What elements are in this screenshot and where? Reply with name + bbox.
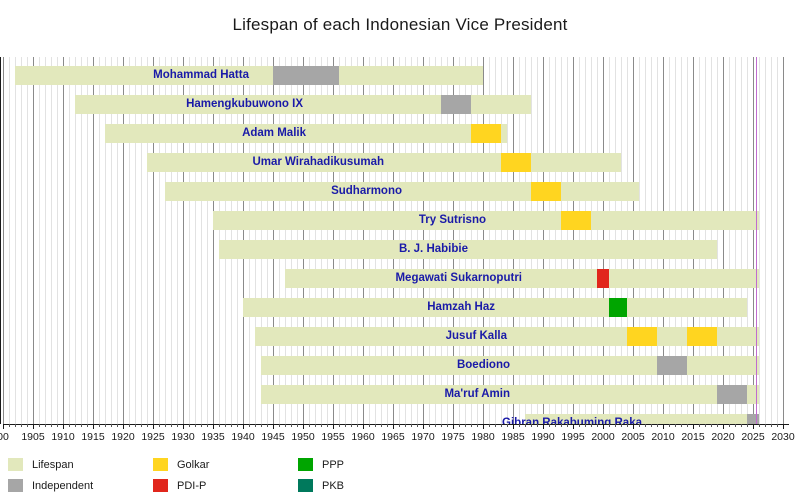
x-tick-minor	[549, 424, 550, 427]
x-tick-major	[123, 424, 124, 429]
x-tick-minor	[57, 424, 58, 427]
x-tick-minor	[309, 424, 310, 427]
term-segment-golkar[interactable]	[627, 327, 657, 346]
x-tick-minor	[729, 424, 730, 427]
timeline-row[interactable]: Gibran Rakabuming Raka	[3, 414, 789, 424]
x-tick-minor	[519, 424, 520, 427]
x-tick-major	[513, 424, 514, 429]
x-tick-minor	[489, 424, 490, 427]
timeline-row[interactable]: Sudharmono	[3, 182, 789, 201]
x-tick-minor	[669, 424, 670, 427]
x-tick-major	[303, 424, 304, 429]
timeline-row[interactable]: Boediono	[3, 356, 789, 375]
x-tick-minor	[771, 424, 772, 427]
x-tick-minor	[357, 424, 358, 427]
term-segment-independent[interactable]	[657, 356, 687, 375]
x-tick-minor	[15, 424, 16, 427]
x-tick-minor	[651, 424, 652, 427]
timeline-row[interactable]: Umar Wirahadikusumah	[3, 153, 789, 172]
row-label: Ma'ruf Amin	[3, 385, 510, 404]
term-segment-ppp[interactable]	[609, 298, 627, 317]
x-tick-minor	[267, 424, 268, 427]
legend-item-pkb[interactable]: PKB	[298, 479, 344, 492]
x-tick-minor	[411, 424, 412, 427]
x-tick-minor	[687, 424, 688, 427]
timeline-row[interactable]: B. J. Habibie	[3, 240, 789, 259]
x-tick-minor	[345, 424, 346, 427]
timeline-row[interactable]: Ma'ruf Amin	[3, 385, 789, 404]
x-tick-minor	[81, 424, 82, 427]
x-tick-minor	[711, 424, 712, 427]
x-tick-minor	[165, 424, 166, 427]
x-tick-major	[3, 424, 4, 429]
today-marker-line	[756, 57, 757, 424]
legend-item-golkar[interactable]: Golkar	[153, 458, 209, 471]
x-tick-minor	[45, 424, 46, 427]
row-label: Hamzah Haz	[3, 298, 495, 317]
x-tick-major	[33, 424, 34, 429]
x-tick-minor	[255, 424, 256, 427]
x-tick-minor	[777, 424, 778, 427]
x-tick-major	[63, 424, 64, 429]
legend-label-independent: Independent	[32, 480, 93, 492]
timeline-row[interactable]: Try Sutrisno	[3, 211, 789, 230]
legend-label-lifespan: Lifespan	[32, 459, 74, 471]
x-tick-minor	[441, 424, 442, 427]
x-tick-minor	[201, 424, 202, 427]
x-tick-minor	[291, 424, 292, 427]
timeline-row[interactable]: Hamzah Haz	[3, 298, 789, 317]
timeline-row[interactable]: Mohammad Hatta	[3, 66, 789, 85]
x-tick-minor	[321, 424, 322, 427]
x-tick-minor	[207, 424, 208, 427]
x-tick-minor	[99, 424, 100, 427]
x-tick-minor	[705, 424, 706, 427]
legend-item-independent[interactable]: Independent	[8, 479, 93, 492]
x-tick-minor	[69, 424, 70, 427]
x-tick-minor	[429, 424, 430, 427]
term-segment-golkar[interactable]	[531, 182, 561, 201]
legend-label-pkb: PKB	[322, 480, 344, 492]
x-tick-major	[333, 424, 334, 429]
x-tick-minor	[561, 424, 562, 427]
x-tick-minor	[387, 424, 388, 427]
x-tick-minor	[501, 424, 502, 427]
x-tick-minor	[111, 424, 112, 427]
row-label: Try Sutrisno	[3, 211, 486, 230]
chart-title: Lifespan of each Indonesian Vice Preside…	[0, 15, 800, 35]
x-tick-minor	[591, 424, 592, 427]
term-segment-pdip[interactable]	[597, 269, 609, 288]
row-label: B. J. Habibie	[3, 240, 468, 259]
timeline-row[interactable]: Megawati Sukarnoputri	[3, 269, 789, 288]
x-tick-major	[273, 424, 274, 429]
timeline-row[interactable]: Jusuf Kalla	[3, 327, 789, 346]
x-tick-minor	[141, 424, 142, 427]
x-tick-minor	[249, 424, 250, 427]
row-label: Sudharmono	[3, 182, 402, 201]
x-tick-minor	[51, 424, 52, 427]
row-label: Umar Wirahadikusumah	[3, 153, 384, 172]
x-tick-minor	[657, 424, 658, 427]
term-segment-independent[interactable]	[747, 414, 759, 424]
x-tick-major	[453, 424, 454, 429]
x-tick-minor	[735, 424, 736, 427]
x-tick-major	[783, 424, 784, 429]
x-tick-major	[93, 424, 94, 429]
x-tick-minor	[471, 424, 472, 427]
x-tick-minor	[105, 424, 106, 427]
x-tick-minor	[339, 424, 340, 427]
x-tick-minor	[681, 424, 682, 427]
x-tick-major	[183, 424, 184, 429]
x-tick-major	[753, 424, 754, 429]
x-tick-minor	[699, 424, 700, 427]
x-tick-minor	[189, 424, 190, 427]
row-label: Gibran Rakabuming Raka	[3, 414, 642, 424]
x-tick-major	[483, 424, 484, 429]
x-tick-minor	[351, 424, 352, 427]
x-tick-minor	[759, 424, 760, 427]
chart-root: Lifespan of each Indonesian Vice Preside…	[0, 0, 800, 500]
x-tick-minor	[717, 424, 718, 427]
x-tick-minor	[507, 424, 508, 427]
x-tick-major	[393, 424, 394, 429]
x-tick-minor	[75, 424, 76, 427]
x-tick-major	[663, 424, 664, 429]
term-segment-independent[interactable]	[273, 66, 339, 85]
x-tick-minor	[279, 424, 280, 427]
x-tick-label: 2030	[763, 431, 800, 443]
legend-swatch-golkar	[153, 458, 168, 471]
x-tick-minor	[315, 424, 316, 427]
x-tick-major	[693, 424, 694, 429]
x-tick-minor	[225, 424, 226, 427]
x-tick-minor	[447, 424, 448, 427]
x-tick-minor	[465, 424, 466, 427]
x-tick-minor	[405, 424, 406, 427]
x-tick-minor	[537, 424, 538, 427]
x-tick-minor	[147, 424, 148, 427]
x-tick-minor	[297, 424, 298, 427]
legend-item-ppp[interactable]: PPP	[298, 458, 344, 471]
term-segment-independent[interactable]	[441, 95, 471, 114]
x-tick-minor	[195, 424, 196, 427]
x-tick-minor	[27, 424, 28, 427]
x-tick-minor	[9, 424, 10, 427]
x-tick-major	[543, 424, 544, 429]
x-tick-major	[633, 424, 634, 429]
x-tick-major	[363, 424, 364, 429]
x-tick-minor	[219, 424, 220, 427]
x-tick-major	[423, 424, 424, 429]
x-tick-minor	[159, 424, 160, 427]
x-tick-minor	[177, 424, 178, 427]
term-segment-golkar[interactable]	[687, 327, 717, 346]
x-tick-minor	[129, 424, 130, 427]
x-tick-minor	[237, 424, 238, 427]
x-tick-minor	[639, 424, 640, 427]
x-tick-minor	[435, 424, 436, 427]
x-tick-minor	[117, 424, 118, 427]
x-tick-minor	[261, 424, 262, 427]
term-segment-golkar[interactable]	[471, 124, 501, 143]
x-tick-minor	[531, 424, 532, 427]
x-tick-minor	[285, 424, 286, 427]
x-tick-major	[153, 424, 154, 429]
legend-label-ppp: PPP	[322, 459, 344, 471]
x-tick-minor	[645, 424, 646, 427]
timeline-row[interactable]: Adam Malik	[3, 124, 789, 143]
legend-swatch-pdip	[153, 479, 168, 492]
row-label: Mohammad Hatta	[3, 66, 249, 85]
legend-label-golkar: Golkar	[177, 459, 209, 471]
legend-swatch-ppp	[298, 458, 313, 471]
y-axis-line	[0, 57, 1, 424]
x-tick-minor	[675, 424, 676, 427]
x-tick-minor	[585, 424, 586, 427]
x-tick-minor	[741, 424, 742, 427]
x-tick-minor	[171, 424, 172, 427]
legend-swatch-independent	[8, 479, 23, 492]
term-segment-golkar[interactable]	[561, 211, 591, 230]
x-tick-minor	[609, 424, 610, 427]
x-tick-minor	[327, 424, 328, 427]
x-tick-minor	[597, 424, 598, 427]
term-segment-independent[interactable]	[717, 385, 747, 404]
x-tick-minor	[135, 424, 136, 427]
x-tick-minor	[525, 424, 526, 427]
x-tick-minor	[621, 424, 622, 427]
term-segment-golkar[interactable]	[501, 153, 531, 172]
x-tick-major	[213, 424, 214, 429]
x-tick-major	[243, 424, 244, 429]
plot-area: Mohammad HattaHamengkubuwono IXAdam Mali…	[3, 57, 789, 424]
x-tick-minor	[87, 424, 88, 427]
x-tick-minor	[39, 424, 40, 427]
row-label: Hamengkubuwono IX	[3, 95, 303, 114]
x-tick-minor	[417, 424, 418, 427]
x-tick-minor	[381, 424, 382, 427]
x-axis-line	[3, 424, 789, 425]
x-tick-minor	[21, 424, 22, 427]
x-tick-minor	[567, 424, 568, 427]
timeline-row[interactable]: Hamengkubuwono IX	[3, 95, 789, 114]
x-tick-minor	[495, 424, 496, 427]
x-tick-minor	[627, 424, 628, 427]
x-tick-minor	[579, 424, 580, 427]
row-label: Boediono	[3, 356, 510, 375]
x-tick-minor	[555, 424, 556, 427]
x-tick-minor	[459, 424, 460, 427]
row-label: Megawati Sukarnoputri	[3, 269, 522, 288]
legend-item-lifespan[interactable]: Lifespan	[8, 458, 74, 471]
legend-label-pdip: PDI-P	[177, 480, 206, 492]
x-tick-minor	[231, 424, 232, 427]
x-tick-minor	[375, 424, 376, 427]
x-tick-minor	[615, 424, 616, 427]
x-tick-minor	[399, 424, 400, 427]
x-tick-major	[723, 424, 724, 429]
x-tick-major	[603, 424, 604, 429]
legend-swatch-pkb	[298, 479, 313, 492]
x-tick-major	[573, 424, 574, 429]
x-tick-minor	[765, 424, 766, 427]
legend-swatch-lifespan	[8, 458, 23, 471]
x-tick-minor	[369, 424, 370, 427]
x-tick-minor	[477, 424, 478, 427]
x-tick-minor	[747, 424, 748, 427]
legend-item-pdip[interactable]: PDI-P	[153, 479, 206, 492]
row-label: Jusuf Kalla	[3, 327, 507, 346]
row-label: Adam Malik	[3, 124, 306, 143]
